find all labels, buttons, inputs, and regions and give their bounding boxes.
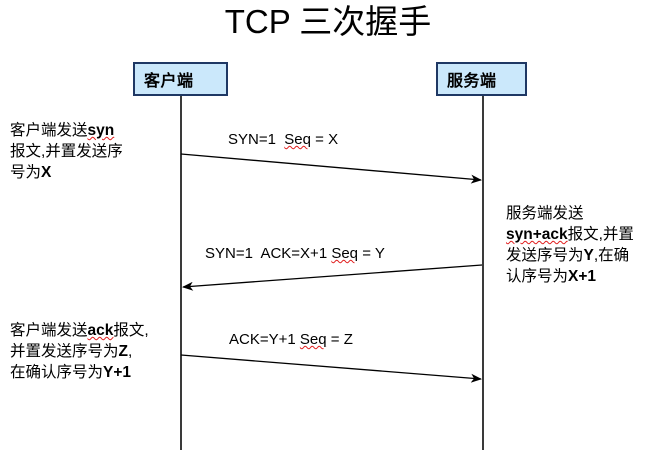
note-server-synack: 服务端发送 syn+ack报文,并置 发送序号为Y,在确 认序号为X+1 xyxy=(506,203,656,287)
message-label-3: ACK=Y+1 Seq = Z xyxy=(229,331,353,349)
note-server-synack-line-1: 服务端发送 xyxy=(506,203,656,224)
message-arrow-3 xyxy=(181,355,481,379)
note-client-syn: 客户端发送syn 报文,并置发送序 号为X xyxy=(10,120,185,183)
note-client-syn-line-3: 号为X xyxy=(10,162,185,183)
message-label-2: SYN=1 ACK=X+1 Seq = Y xyxy=(205,245,385,263)
message-label-1: SYN=1 Seq = X xyxy=(228,131,338,149)
actor-box-server: 服务端 xyxy=(436,62,527,96)
message-arrow-1 xyxy=(181,154,481,180)
lifeline-server xyxy=(482,96,484,450)
diagram-canvas: TCP 三次握手 客户端 服务端 SYN=1 Seq = X SYN=1 ACK… xyxy=(0,0,656,450)
actor-label-server: 服务端 xyxy=(447,67,497,91)
spellcheck-token-syn: syn xyxy=(88,122,115,139)
note-client-ack-line-3: 在确认序号为Y+1 xyxy=(10,362,190,383)
note-client-syn-line-1: 客户端发送syn xyxy=(10,120,185,141)
note-client-ack-line-1: 客户端发送ack报文, xyxy=(10,320,190,341)
spellcheck-token-seq-3: Seq xyxy=(300,331,327,348)
note-client-ack-line-2: 并置发送序号为Z, xyxy=(10,341,190,362)
message-arrow-2 xyxy=(183,265,482,287)
spellcheck-token-syn-ack: syn+ack xyxy=(506,226,568,243)
note-client-syn-line-2: 报文,并置发送序 xyxy=(10,141,185,162)
spellcheck-token-ack: ack xyxy=(88,322,114,339)
note-server-synack-line-4: 认序号为X+1 xyxy=(506,266,656,287)
note-server-synack-line-3: 发送序号为Y,在确 xyxy=(506,245,656,266)
actor-label-client: 客户端 xyxy=(144,67,194,91)
spellcheck-token-seq-1: Seq xyxy=(284,131,311,148)
page-title: TCP 三次握手 xyxy=(0,2,656,42)
note-server-synack-line-2: syn+ack报文,并置 xyxy=(506,224,656,245)
actor-box-client: 客户端 xyxy=(133,62,228,96)
note-client-ack: 客户端发送ack报文, 并置发送序号为Z, 在确认序号为Y+1 xyxy=(10,320,190,383)
spellcheck-token-seq-2: Seq xyxy=(331,245,358,262)
